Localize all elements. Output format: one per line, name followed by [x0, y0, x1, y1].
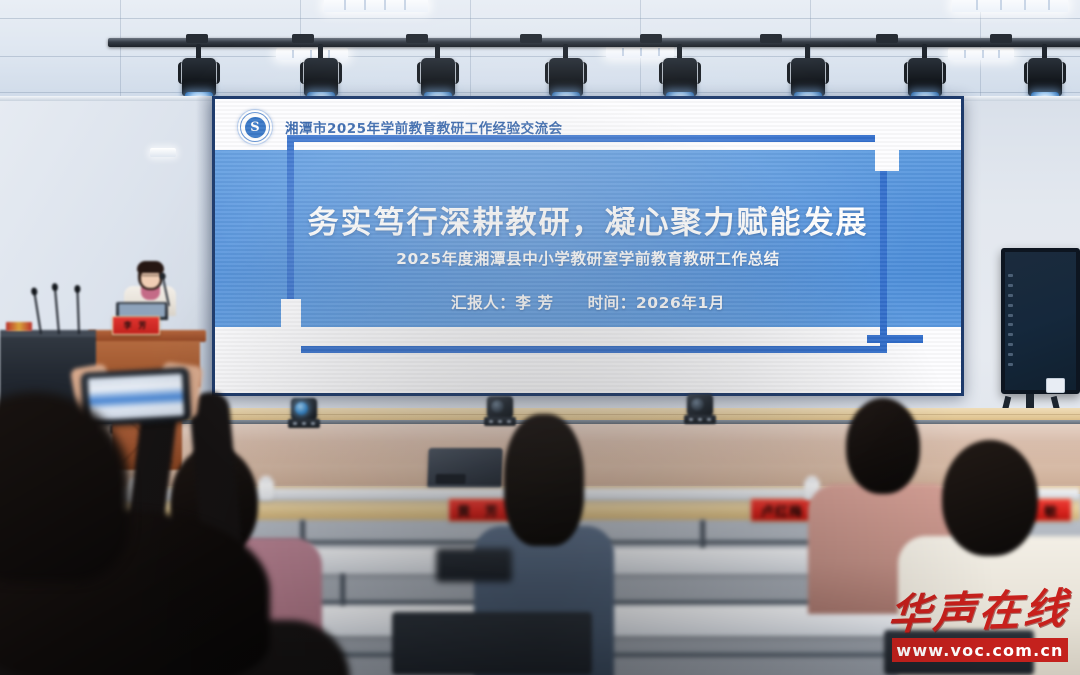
slide-frame-accent-bar: [867, 335, 923, 343]
chair-back: [436, 548, 512, 582]
table-emblem: [6, 322, 32, 331]
interactive-whiteboard[interactable]: [1001, 248, 1080, 394]
conference-photo: S 湘潭市2025年学前教育教研工作经验交流会 务实笃行深耕教研，凝心聚力赋能发…: [0, 0, 1080, 675]
ceiling-light-panel: [948, 48, 1014, 60]
ceiling-light-panel: [952, 0, 1068, 12]
ceiling-light-panel: [324, 0, 428, 12]
projection-screen[interactable]: S 湘潭市2025年学前教育教研工作经验交流会 务实笃行深耕教研，凝心聚力赋能发…: [212, 96, 964, 396]
presenter-label: 汇报人：: [451, 291, 515, 313]
floor-moving-light: [286, 398, 322, 428]
presenter-name: 李 芳: [515, 291, 553, 313]
wall-light-fixture: [150, 148, 176, 157]
wall-socket: [1046, 378, 1065, 393]
floor-moving-light: [682, 394, 718, 424]
watermark-brand: 华声在线: [883, 575, 1075, 641]
slide-header: S 湘潭市2025年学前教育教研工作经验交流会: [237, 108, 563, 146]
table-nameplate: 卢红梅: [750, 498, 814, 522]
podium-nameplate: 李 芳: [112, 316, 160, 335]
watermark-url: www.voc.com.cn: [892, 638, 1068, 662]
presentation-slide: S 湘潭市2025年学前教育教研工作经验交流会 务实笃行深耕教研，凝心聚力赋能发…: [215, 99, 961, 393]
watermark: 华声在线 www.voc.com.cn: [886, 578, 1072, 670]
slide-presenter-line: 汇报人：李 芳时间：2026年1月: [215, 291, 961, 313]
ceiling-light-panel: [606, 46, 674, 58]
chair-back: [392, 612, 592, 675]
slide-subtitle: 2025年度湘潭县中小学教研室学前教育教研工作总结: [215, 247, 961, 269]
date-label: 时间：: [588, 291, 636, 313]
slide-decorative-frame: [287, 135, 887, 353]
lighting-truss: [108, 38, 1080, 47]
slide-frame-gap-right: [875, 113, 899, 171]
eyeglasses: [142, 275, 159, 280]
organization-emblem-icon: S: [237, 109, 273, 145]
slide-header-title: 湘潭市2025年学前教育教研工作经验交流会: [285, 117, 563, 137]
date-value: 2026年1月: [636, 291, 725, 313]
slide-main-title: 务实笃行深耕教研，凝心聚力赋能发展: [215, 197, 961, 242]
